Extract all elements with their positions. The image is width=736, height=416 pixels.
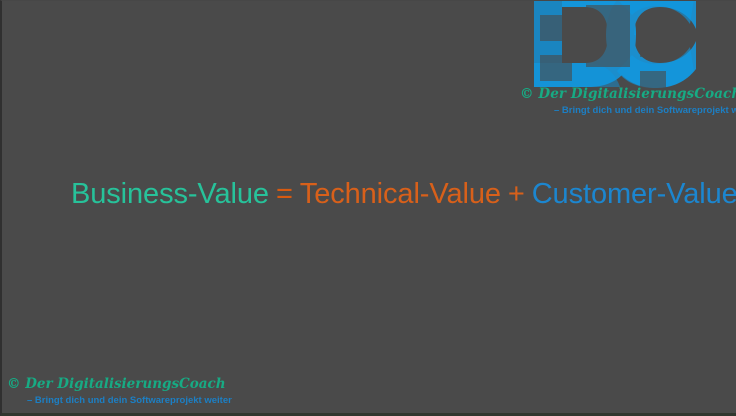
logo-overlay-block [540,15,576,41]
equation-headline: Business-Value=Technical-Value+Customer-… [71,179,736,209]
equation-term-business: Business-Value [71,178,269,210]
brand-logo: © Der DigitalisierungsCoach – Bringt dic… [520,1,716,123]
logo-overlay-block [540,55,572,81]
dc-monogram-icon [528,0,704,91]
presentation-slide: © Der DigitalisierungsCoach – Bringt dic… [0,0,736,416]
logo-overlay-block [586,5,630,67]
watermark-brand-name: © Der DigitalisierungsCoach [7,376,226,392]
equation-term-technical: Technical-Value [300,178,501,210]
watermark-tagline: – Bringt dich und dein Softwareprojekt w… [27,395,232,406]
equation-operator-equals: = [276,178,293,210]
equation-term-customer: Customer-Value [532,178,736,210]
footer-watermark: © Der DigitalisierungsCoach – Bringt dic… [7,376,267,410]
logo-overlay-block [640,35,666,57]
logo-brand-name: © Der DigitalisierungsCoach [520,86,716,102]
equation-operator-plus: + [508,178,525,210]
logo-tagline: – Bringt dich und dein Softwareprojekt w… [554,105,736,116]
